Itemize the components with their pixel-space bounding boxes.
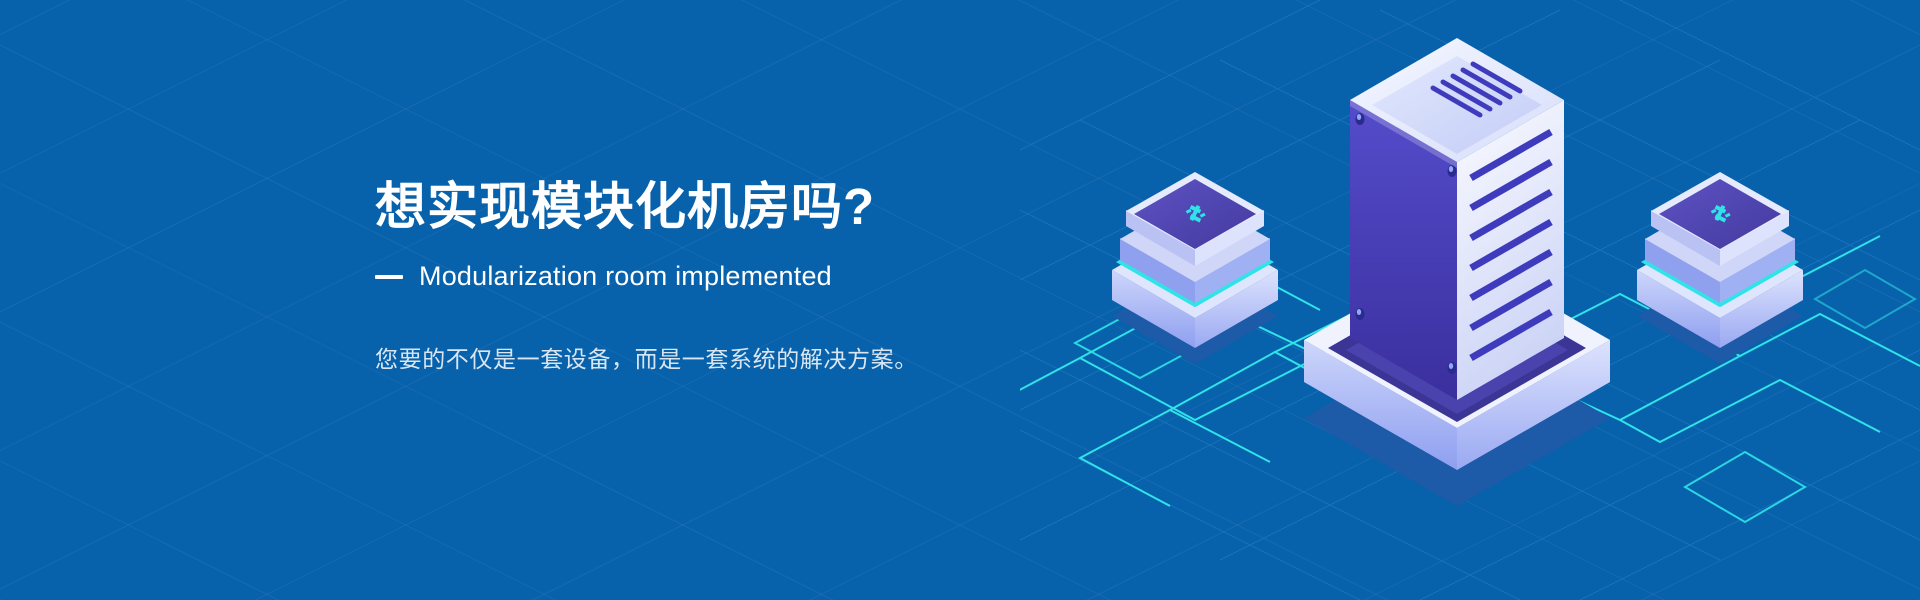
isometric-modular-server-room-illustration (1020, 0, 1920, 600)
subtitle-row: Modularization room implemented (375, 261, 1075, 292)
horizontal-dash-icon (375, 275, 403, 279)
hero-copy-block: 想实现模块化机房吗? Modularization room implement… (375, 178, 1075, 374)
page-title: 想实现模块化机房吗? (375, 178, 1075, 235)
hero-banner: 想实现模块化机房吗? Modularization room implement… (0, 0, 1920, 600)
body-text: 您要的不仅是一套设备，而是一套系统的解决方案。 (375, 340, 1075, 374)
subtitle: Modularization room implemented (419, 261, 832, 292)
central-server-rack (1350, 38, 1564, 400)
left-chip-module (1112, 172, 1278, 364)
